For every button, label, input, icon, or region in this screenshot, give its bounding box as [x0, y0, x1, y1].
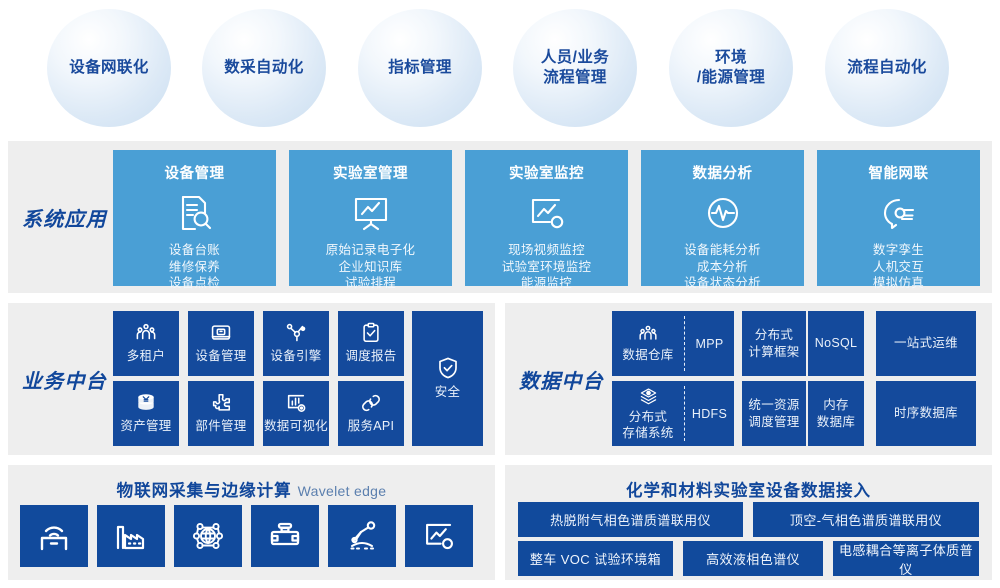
business-cell-multi-tenant[interactable]: 多租户 — [113, 311, 179, 376]
data-warehouse-part[interactable]: 数据仓库 — [612, 311, 684, 376]
document-search-icon — [175, 193, 215, 233]
data-cell-warehouse-mpp[interactable]: 数据仓库 MPP — [612, 311, 734, 376]
architecture-diagram: 设备网联化 数采自动化 指标管理 人员/业务 流程管理 环境 /能源管理 流程自… — [0, 0, 1000, 588]
lab-tile-icpms[interactable]: 电感耦合等离子体质普仪 — [833, 541, 979, 576]
bubble-label: 指标管理 — [388, 58, 452, 78]
business-cell-label: 数据可视化 — [264, 418, 328, 434]
iot-edge-title-text: 物联网采集与边缘计算 — [117, 482, 292, 500]
data-cell-label: MPP — [696, 336, 724, 352]
shield-check-icon — [436, 356, 460, 380]
data-cell-storage-hdfs[interactable]: 分布式 存储系统 HDFS — [612, 381, 734, 446]
sys-card-data-analysis[interactable]: 数据分析 设备能耗分析 成本分析 设备状态分析 — [641, 150, 804, 286]
iot-tile-network-globe[interactable] — [174, 505, 242, 567]
mpp-part[interactable]: MPP — [685, 311, 734, 376]
data-cell-label: 分布式 存储系统 — [622, 409, 673, 441]
bubble-2[interactable]: 指标管理 — [358, 9, 482, 127]
system-application-row-label: 系统应用 — [22, 203, 107, 232]
iot-tile-sensor-device[interactable] — [251, 505, 319, 567]
lab-data-title: 化学和材料实验室设备数据接入 — [505, 477, 992, 501]
sys-card-title: 设备管理 — [165, 162, 225, 183]
sys-card-device-management[interactable]: 设备管理 设备台账 维修保养 设备点检 — [113, 150, 276, 286]
business-platform-row-label: 业务中台 — [22, 365, 107, 394]
data-warehouse-icon — [638, 324, 658, 344]
bubble-4[interactable]: 环境 /能源管理 — [669, 9, 793, 127]
bubble-1[interactable]: 数采自动化 — [202, 9, 326, 127]
business-cell-label: 设备管理 — [195, 348, 246, 364]
sys-card-lab-monitoring[interactable]: 实验室监控 现场视频监控 试验室环境监控 能源监控 — [465, 150, 628, 286]
business-cell-component-management[interactable]: 部件管理 — [188, 381, 254, 446]
sys-card-title: 智能网联 — [869, 162, 929, 183]
sys-card-lines: 原始记录电子化 企业知识库 试验排程 — [326, 242, 416, 292]
bubble-label: 设备网联化 — [69, 58, 149, 78]
business-cell-security[interactable]: 安全 — [412, 311, 483, 446]
robot-arm-icon — [345, 519, 379, 553]
business-cell-dispatch-report[interactable]: 调度报告 — [338, 311, 404, 376]
data-cell-timeseries-db[interactable]: 时序数据库 — [876, 381, 976, 446]
iot-edge-subtitle: Wavelet edge — [298, 483, 387, 499]
lab-tile-label: 整车 VOC 试验环境箱 — [530, 549, 661, 568]
factory-icon — [114, 519, 148, 553]
presentation-chart-icon — [351, 193, 391, 233]
data-cell-label: 分布式 计算框架 — [748, 327, 799, 360]
lab-tile-label: 高效液相色谱仪 — [706, 549, 800, 568]
multi-tenant-icon — [135, 322, 157, 344]
business-cell-label: 设备引擎 — [270, 348, 321, 364]
hdfs-part[interactable]: HDFS — [685, 381, 734, 446]
data-cell-one-stop-ops[interactable]: 一站式运维 — [876, 311, 976, 376]
pulse-circle-icon — [703, 193, 743, 233]
lab-tile-label: 顶空-气相色谱质谱联用仪 — [790, 510, 942, 529]
lab-tile-label: 热脱附气相色谱质谱联用仪 — [550, 510, 711, 529]
capability-bubble-row: 设备网联化 数采自动化 指标管理 人员/业务 流程管理 环境 /能源管理 流程自… — [0, 0, 1000, 136]
business-cell-asset-management[interactable]: 资产管理 — [113, 381, 179, 446]
iot-tile-factory[interactable] — [97, 505, 165, 567]
business-cell-label: 服务API — [348, 418, 395, 434]
sensor-device-icon — [268, 519, 302, 553]
bubble-label: 人员/业务 流程管理 — [541, 48, 609, 89]
monitor-chart-icon — [527, 193, 567, 233]
iot-tile-robot-arm[interactable] — [328, 505, 396, 567]
bubble-label: 数采自动化 — [224, 58, 304, 78]
lab-tile-voc-chamber[interactable]: 整车 VOC 试验环境箱 — [518, 541, 673, 576]
distributed-storage-icon — [639, 387, 658, 406]
business-cell-device-engine[interactable]: 设备引擎 — [263, 311, 329, 376]
bubble-5[interactable]: 流程自动化 — [825, 9, 949, 127]
data-cell-distributed-compute[interactable]: 分布式 计算框架 — [742, 311, 806, 376]
asset-database-icon — [135, 392, 157, 414]
data-cell-label: 内存 数据库 — [817, 397, 855, 430]
bubble-label: 流程自动化 — [847, 58, 927, 78]
bubble-0[interactable]: 设备网联化 — [47, 9, 171, 127]
business-cell-service-api[interactable]: 服务API — [338, 381, 404, 446]
iot-tile-wifi-gateway[interactable] — [20, 505, 88, 567]
business-cell-label: 多租户 — [127, 348, 165, 364]
distributed-storage-part[interactable]: 分布式 存储系统 — [612, 381, 684, 446]
data-platform-row-label: 数据中台 — [519, 365, 604, 394]
data-visual-icon — [285, 392, 307, 414]
data-cell-label: 时序数据库 — [894, 405, 958, 421]
business-cell-label: 安全 — [435, 384, 461, 400]
business-cell-data-visualization[interactable]: 数据可视化 — [263, 381, 329, 446]
business-cell-device-management[interactable]: 设备管理 — [188, 311, 254, 376]
network-globe-icon — [191, 519, 225, 553]
data-cell-resource-scheduling[interactable]: 统一资源 调度管理 — [742, 381, 806, 446]
sys-card-title: 数据分析 — [693, 162, 753, 183]
lab-tile-headspace-gcms[interactable]: 顶空-气相色谱质谱联用仪 — [753, 502, 979, 537]
data-cell-label: 一站式运维 — [894, 335, 958, 351]
smart-head-icon — [879, 193, 919, 233]
lab-tile-td-gcms[interactable]: 热脱附气相色谱质谱联用仪 — [518, 502, 743, 537]
bubble-label: 环境 /能源管理 — [697, 48, 765, 89]
data-cell-label: 数据仓库 — [622, 347, 673, 363]
lab-tile-hplc[interactable]: 高效液相色谱仪 — [683, 541, 823, 576]
business-cell-label: 部件管理 — [195, 418, 246, 434]
data-cell-label: 统一资源 调度管理 — [748, 397, 799, 430]
data-cell-nosql[interactable]: NoSQL — [808, 311, 864, 376]
engine-node-icon — [285, 322, 307, 344]
monitor-chart-icon — [422, 519, 456, 553]
lab-tile-label: 电感耦合等离子体质普仪 — [833, 540, 979, 578]
business-cell-label: 调度报告 — [345, 348, 396, 364]
sys-card-smart-connectivity[interactable]: 智能网联 数字孪生 人机交互 模拟仿真 — [817, 150, 980, 286]
sys-card-lab-management[interactable]: 实验室管理 原始记录电子化 企业知识库 试验排程 — [289, 150, 452, 286]
device-box-icon — [210, 322, 232, 344]
iot-edge-title: 物联网采集与边缘计算Wavelet edge — [8, 477, 495, 501]
sys-card-lines: 设备能耗分析 成本分析 设备状态分析 — [684, 242, 761, 292]
clipboard-check-icon — [360, 322, 382, 344]
sys-card-lines: 设备台账 维修保养 设备点检 — [169, 242, 220, 292]
bubble-3[interactable]: 人员/业务 流程管理 — [513, 9, 637, 127]
api-link-icon — [360, 392, 382, 414]
sys-card-title: 实验室管理 — [333, 162, 408, 183]
sys-card-title: 实验室监控 — [509, 162, 584, 183]
iot-tile-monitor-chart[interactable] — [405, 505, 473, 567]
business-cell-label: 资产管理 — [120, 418, 171, 434]
data-cell-in-memory-db[interactable]: 内存 数据库 — [808, 381, 864, 446]
wifi-gateway-icon — [37, 519, 71, 553]
data-cell-label: NoSQL — [815, 335, 858, 351]
data-cell-label: HDFS — [692, 406, 727, 422]
sys-card-lines: 现场视频监控 试验室环境监控 能源监控 — [502, 242, 592, 292]
puzzle-icon — [210, 392, 232, 414]
sys-card-lines: 数字孪生 人机交互 模拟仿真 — [873, 242, 924, 292]
